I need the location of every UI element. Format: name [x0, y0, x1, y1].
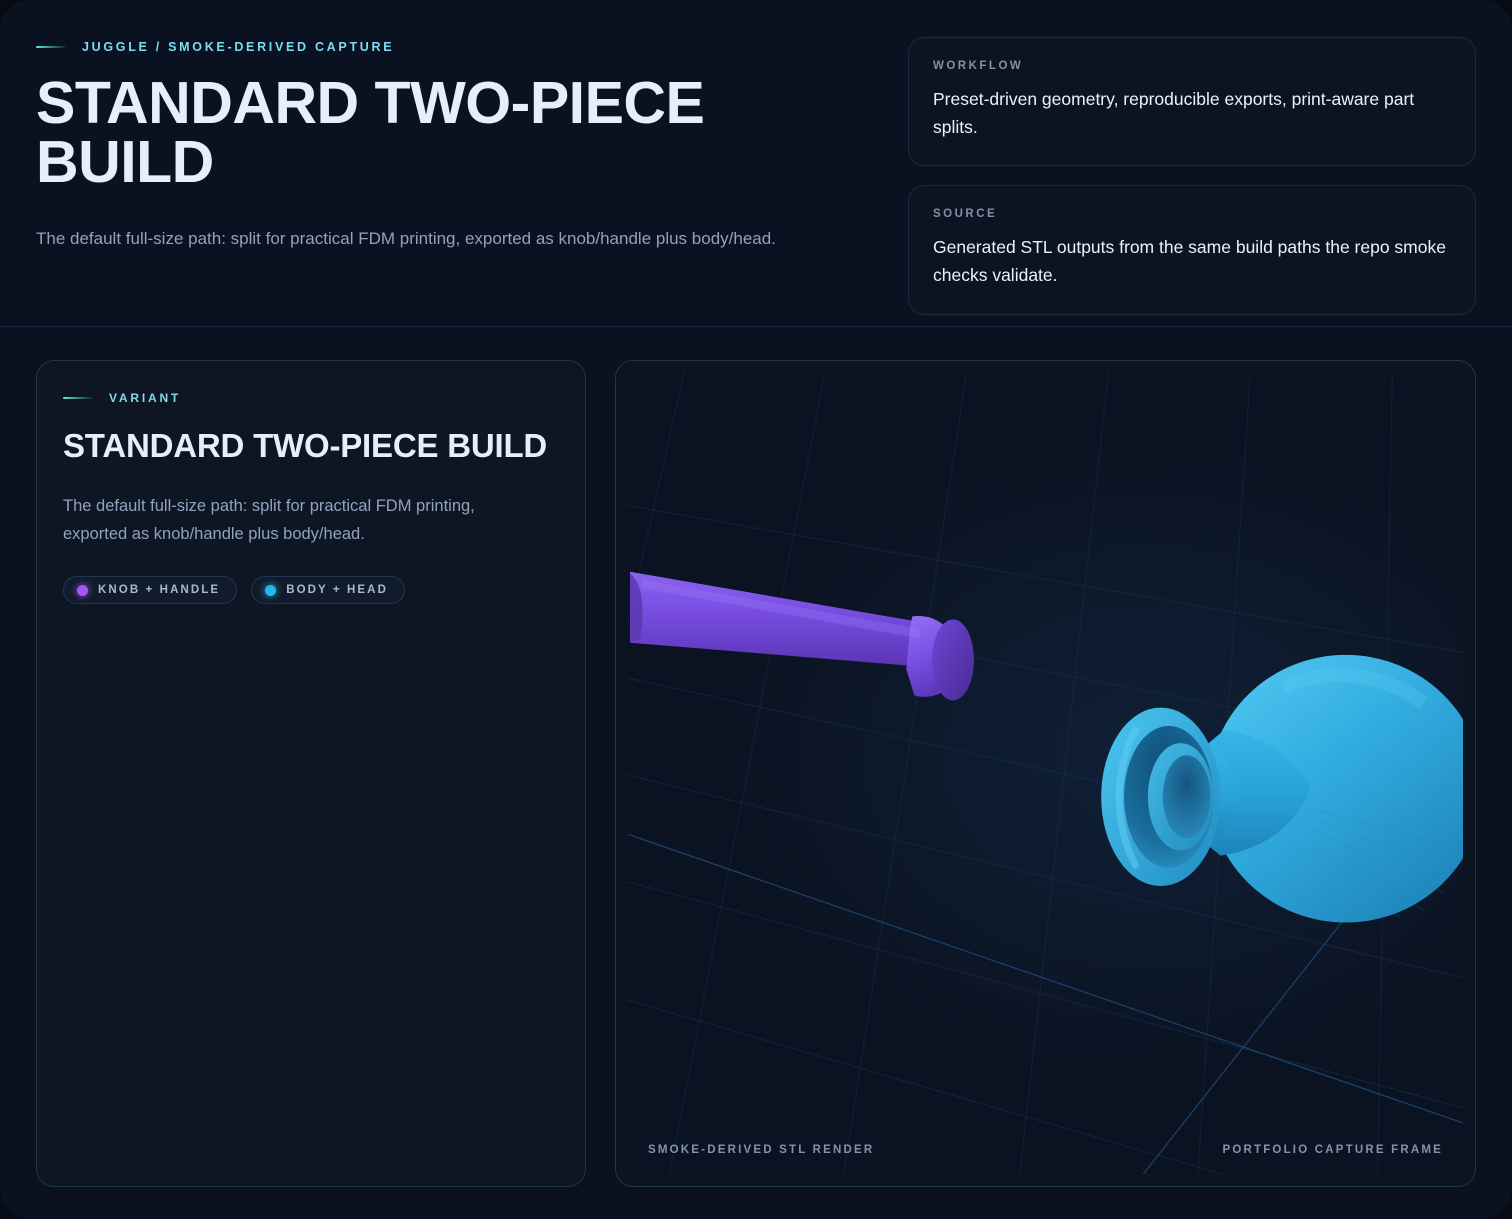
dash-icon [36, 46, 66, 48]
stl-part-knob-handle [630, 572, 974, 701]
chip-label: BODY + HEAD [286, 584, 388, 596]
variant-panel: VARIANT STANDARD TWO-PIECE BUILD The def… [36, 360, 586, 1187]
page-title: STANDARD TWO-PIECE BUILD [36, 74, 836, 192]
chip-label: KNOB + HANDLE [98, 584, 220, 596]
dash-icon [63, 397, 93, 399]
variant-eyebrow: VARIANT [63, 391, 559, 405]
info-card-source: SOURCE Generated STL outputs from the sa… [908, 185, 1476, 314]
stl-geometry [628, 373, 1463, 1174]
page-body: VARIANT STANDARD TWO-PIECE BUILD The def… [0, 327, 1512, 1219]
dot-icon [77, 585, 88, 596]
chip-body-head[interactable]: BODY + HEAD [251, 576, 405, 604]
dot-icon [265, 585, 276, 596]
header-info-cards: WORKFLOW Preset-driven geometry, reprodu… [908, 34, 1476, 326]
render-panel[interactable]: SMOKE-DERIVED STL RENDER PORTFOLIO CAPTU… [615, 360, 1476, 1187]
page-header: JUGGLE / SMOKE-DERIVED CAPTURE STANDARD … [0, 0, 1512, 327]
variant-subtitle: The default full-size path: split for pr… [63, 492, 533, 548]
stl-viewport[interactable]: SMOKE-DERIVED STL RENDER PORTFOLIO CAPTU… [628, 373, 1463, 1174]
breadcrumb: JUGGLE / SMOKE-DERIVED CAPTURE [36, 40, 872, 54]
stl-part-body-head [1101, 655, 1463, 923]
page-subtitle: The default full-size path: split for pr… [36, 224, 826, 253]
info-card-label: WORKFLOW [933, 60, 1451, 72]
variant-title: STANDARD TWO-PIECE BUILD [63, 427, 559, 466]
info-card-body: Preset-driven geometry, reproducible exp… [933, 86, 1451, 141]
info-card-workflow: WORKFLOW Preset-driven geometry, reprodu… [908, 37, 1476, 166]
variant-part-chips: KNOB + HANDLE BODY + HEAD [63, 576, 559, 604]
variant-eyebrow-label: VARIANT [109, 391, 181, 405]
breadcrumb-label: JUGGLE / SMOKE-DERIVED CAPTURE [82, 40, 394, 54]
info-card-body: Generated STL outputs from the same buil… [933, 234, 1451, 289]
chip-knob-handle[interactable]: KNOB + HANDLE [63, 576, 237, 604]
header-left-column: JUGGLE / SMOKE-DERIVED CAPTURE STANDARD … [36, 34, 872, 326]
info-card-label: SOURCE [933, 208, 1451, 220]
capture-page: JUGGLE / SMOKE-DERIVED CAPTURE STANDARD … [0, 0, 1512, 1219]
